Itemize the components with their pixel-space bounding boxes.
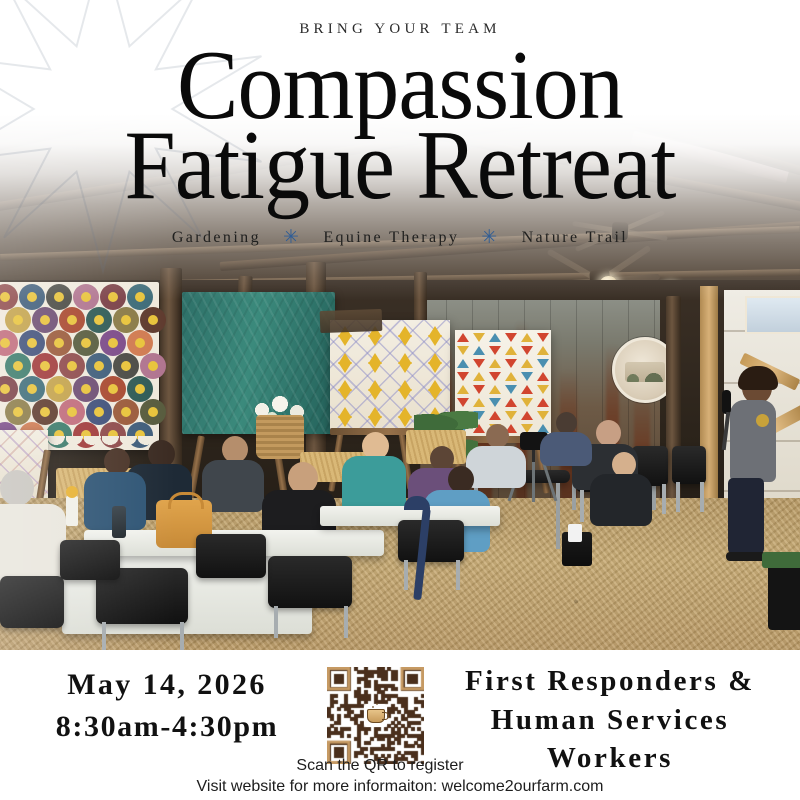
folding-chair bbox=[196, 534, 266, 578]
table-leg bbox=[556, 483, 560, 549]
barn-window bbox=[745, 296, 800, 334]
tripod-leg bbox=[532, 462, 535, 502]
qr-center-logo bbox=[364, 704, 387, 727]
folding-chair bbox=[268, 556, 352, 608]
event-poster: BRING YOUR TEAM Compassion Fatigue Retre… bbox=[0, 0, 800, 800]
website-line: Visit website for more informaiton: welc… bbox=[0, 778, 800, 796]
folding-chair bbox=[0, 576, 64, 628]
equipment-case bbox=[768, 560, 800, 630]
folding-chair bbox=[398, 520, 464, 562]
feature-list: Gardening ✳ Equine Therapy ✳ Nature Trai… bbox=[0, 228, 800, 247]
event-date: May 14, 2026 bbox=[22, 668, 312, 702]
coffee-cup-icon bbox=[367, 709, 385, 723]
green-object bbox=[762, 552, 800, 568]
audience-line-1: First Responders & bbox=[430, 662, 790, 701]
speaker-shoes bbox=[726, 552, 766, 561]
audience-line-2: Human Services bbox=[430, 701, 790, 740]
speaker-hair bbox=[738, 366, 778, 390]
event-datetime: May 14, 2026 8:30am-4:30pm bbox=[22, 668, 312, 744]
poster-footer: May 14, 2026 8:30am-4:30pm First Respond… bbox=[0, 650, 800, 800]
travel-mug bbox=[112, 506, 126, 538]
flower bbox=[66, 486, 78, 498]
flower-vase bbox=[66, 496, 78, 526]
folding-chair bbox=[672, 446, 706, 484]
qr-caption: Scan the QR to register bbox=[200, 757, 560, 775]
microphone bbox=[722, 390, 731, 414]
event-time: 8:30am-4:30pm bbox=[22, 710, 312, 744]
feature-nature-trail: Nature Trail bbox=[522, 229, 629, 247]
folding-chair bbox=[60, 540, 120, 580]
page-title-line-2: Fatigue Retreat bbox=[28, 120, 772, 211]
feature-equine-therapy: Equine Therapy bbox=[323, 229, 459, 247]
handbag-strap bbox=[168, 492, 204, 509]
shirt-logo bbox=[756, 414, 769, 427]
qr-code[interactable] bbox=[327, 667, 424, 764]
wicker-basket bbox=[256, 415, 304, 459]
hexagon-flower-quilt bbox=[0, 282, 159, 450]
speaker-trousers bbox=[728, 478, 764, 554]
hanging-wood-sign bbox=[320, 309, 383, 333]
feature-gardening: Gardening bbox=[172, 229, 261, 247]
paper-sheet bbox=[568, 524, 582, 542]
asterisk-separator-icon: ✳ bbox=[481, 228, 499, 247]
asterisk-separator-icon: ✳ bbox=[283, 228, 301, 247]
